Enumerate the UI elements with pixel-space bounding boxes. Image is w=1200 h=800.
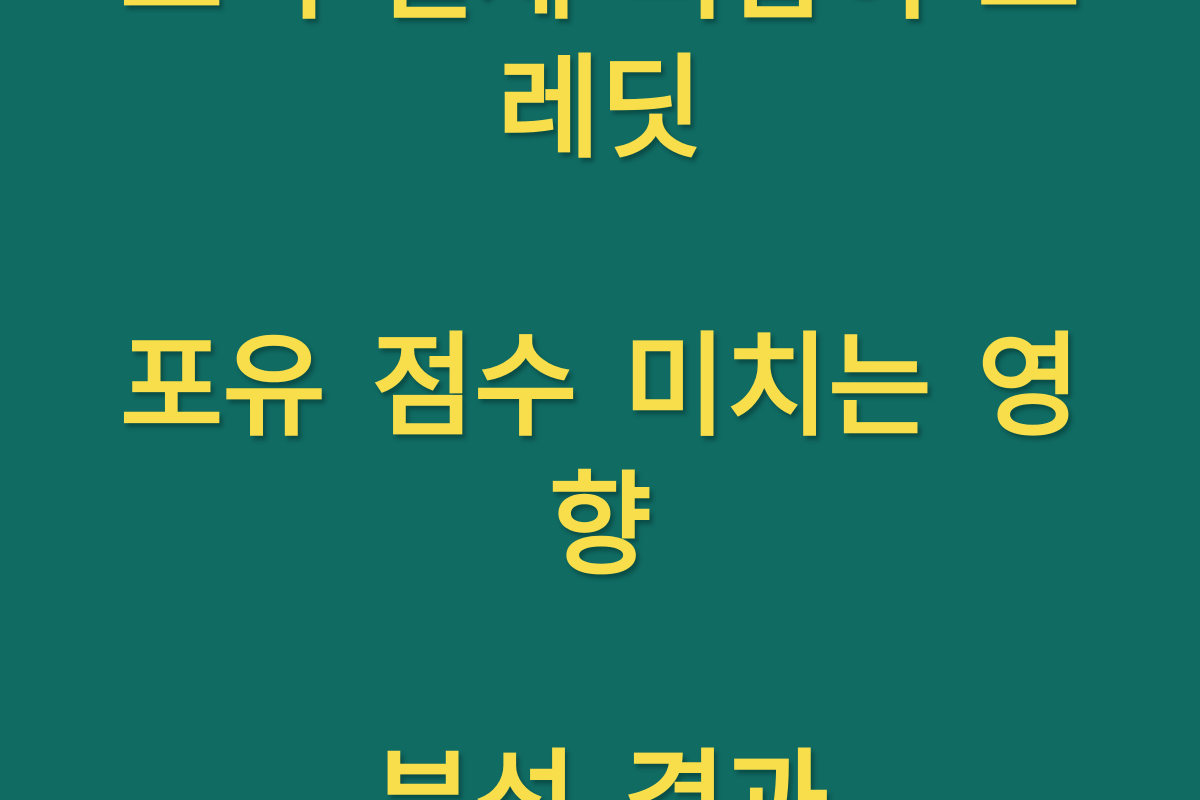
headline-line-3: 분석 결과	[70, 735, 1130, 800]
headline-line-2: 포유 점수 미치는 영향	[70, 318, 1130, 596]
headline-line-1: 소액 결제 미납이 크레딧	[70, 0, 1130, 179]
page-title: 소액 결제 미납이 크레딧 포유 점수 미치는 영향 분석 결과	[70, 0, 1130, 800]
poster-canvas: 소액 결제 미납이 크레딧 포유 점수 미치는 영향 분석 결과	[0, 0, 1200, 800]
